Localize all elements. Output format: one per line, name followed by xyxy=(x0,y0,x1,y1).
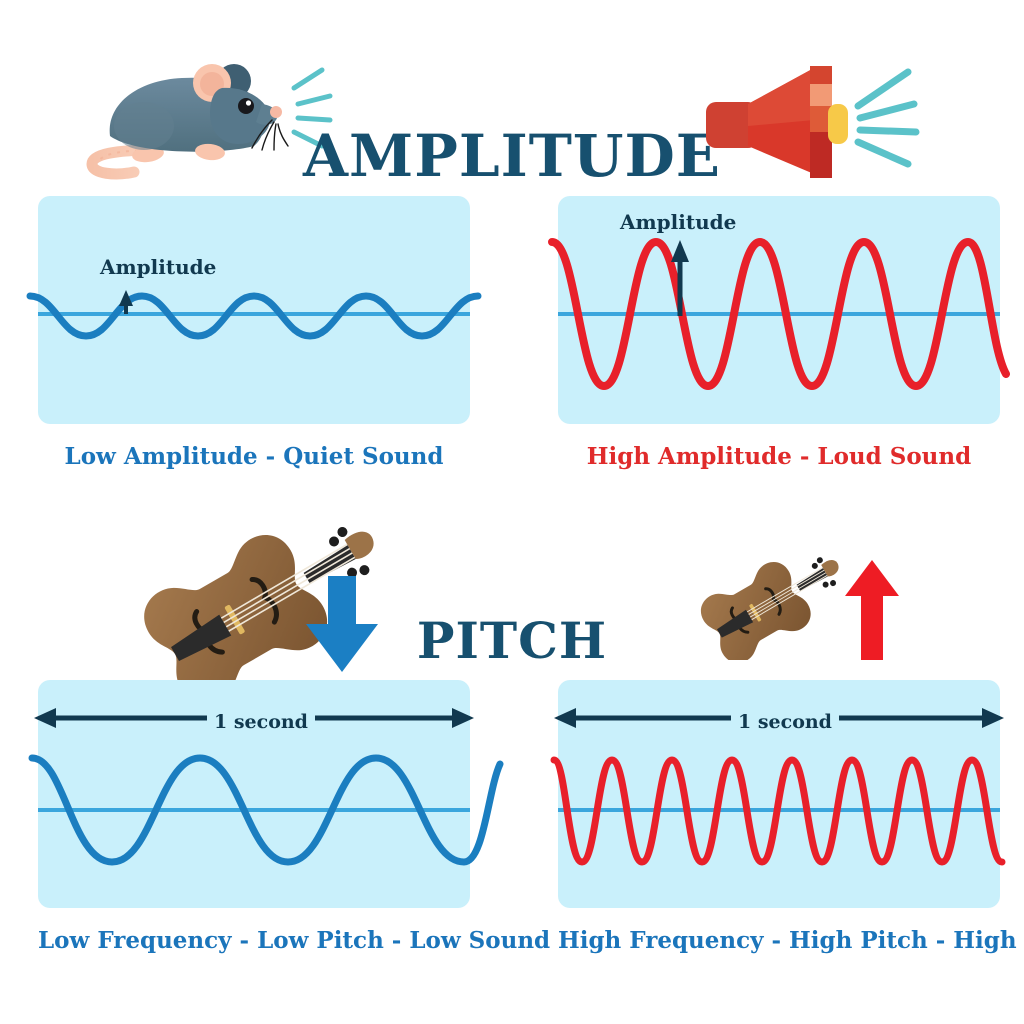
duration-label-low-frequency: 1 second xyxy=(207,711,315,733)
panel-low-amplitude xyxy=(38,196,470,424)
duration-label-high-frequency: 1 second xyxy=(731,711,839,733)
caption-low-frequency: Low Frequency - Low Pitch - Low Sound xyxy=(38,927,470,954)
low-amplitude-wave-chart xyxy=(38,196,470,424)
arrow-up-red-icon xyxy=(843,560,901,660)
amplitude-label-low: Amplitude xyxy=(100,255,216,279)
caption-low-amplitude: Low Amplitude - Quiet Sound xyxy=(38,443,470,470)
caption-high-frequency: High Frequency - High Pitch - High Sound xyxy=(558,927,1000,954)
infographic-canvas: AMPLITUDE Ampl xyxy=(0,0,1024,1024)
sound-ray-icon xyxy=(858,72,916,164)
caption-high-amplitude: High Amplitude - Loud Sound xyxy=(558,443,1000,470)
amplitude-label-high: Amplitude xyxy=(620,210,736,234)
megaphone-icon xyxy=(702,52,952,184)
violin-small-icon xyxy=(672,548,852,660)
